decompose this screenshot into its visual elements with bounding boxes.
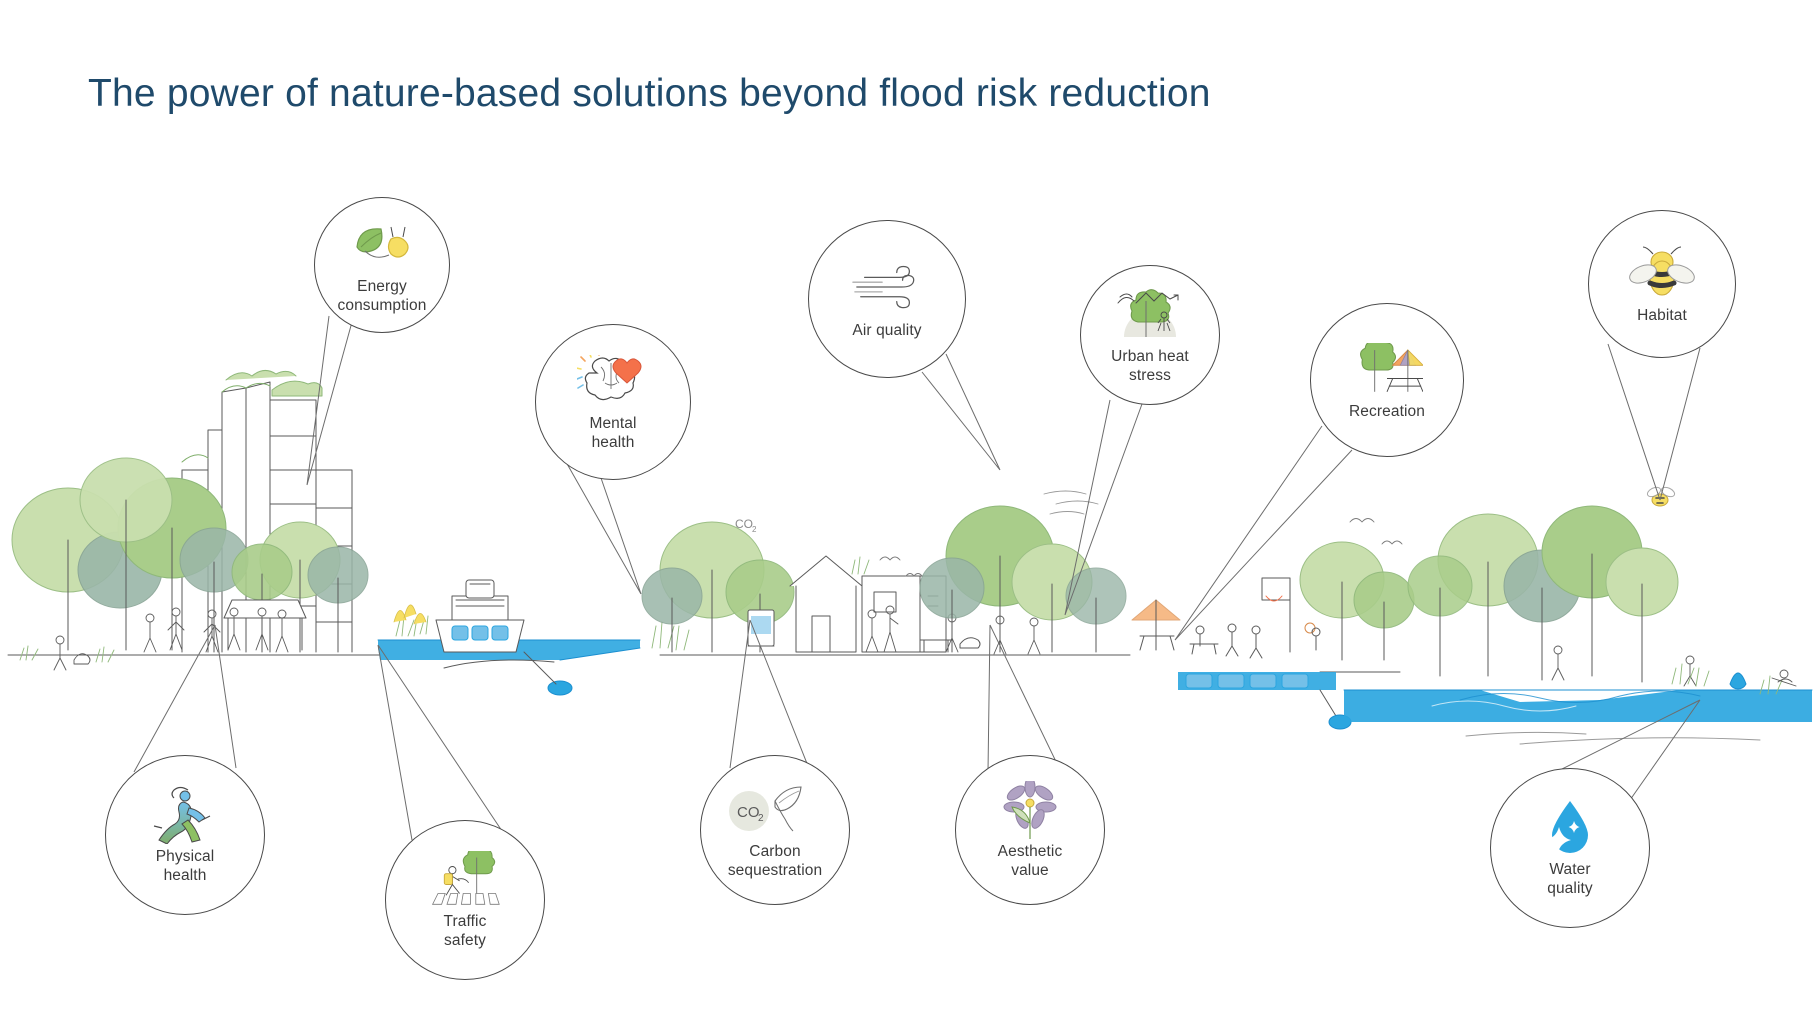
bee-icon	[1626, 243, 1698, 305]
riverbank-reeds	[652, 622, 689, 650]
tree-cluster-court	[1300, 542, 1414, 660]
tree-cluster-left	[12, 458, 368, 652]
tree-cluster-right-park	[920, 506, 1126, 652]
callout-label: Air quality	[852, 322, 921, 341]
canal-boat	[436, 580, 572, 695]
kayaker-on-water	[1772, 670, 1796, 686]
svg-text:CO: CO	[735, 517, 753, 531]
tree-picnic-icon	[1351, 339, 1423, 401]
callout-label: Physical health	[156, 848, 215, 886]
svg-text:CO: CO	[737, 804, 760, 821]
callout-label: Urban heat stress	[1111, 348, 1189, 386]
crosswalk-icon	[429, 849, 501, 911]
tree-cluster-right	[1408, 506, 1678, 682]
runner-icon	[149, 784, 221, 846]
callout-label: Habitat	[1637, 307, 1687, 326]
callout-traffic-safety[interactable]: Traffic safety	[385, 820, 545, 980]
callout-label: Water quality	[1547, 861, 1593, 899]
callout-label: Traffic safety	[444, 913, 487, 951]
floating-green-pontoon	[1178, 672, 1351, 729]
callout-label: Carbon sequestration	[728, 843, 822, 881]
callout-energy-consumption[interactable]: Energy consumption	[314, 197, 450, 333]
callout-mental-health[interactable]: Mental health	[535, 324, 691, 480]
svg-text:2: 2	[758, 813, 764, 824]
callout-physical-health[interactable]: Physical health	[105, 755, 265, 915]
callout-aesthetic-value[interactable]: Aesthetic value	[955, 755, 1105, 905]
callout-label: Energy consumption	[338, 278, 427, 316]
tree-thermal-icon	[1114, 284, 1186, 346]
wind-icon	[851, 258, 923, 320]
callout-water-quality[interactable]: Water quality	[1490, 768, 1650, 928]
flower-icon	[994, 779, 1066, 841]
callout-recreation[interactable]: Recreation	[1310, 303, 1464, 457]
callout-urban-heat-stress[interactable]: Urban heat stress	[1080, 265, 1220, 405]
brain-heart-icon	[577, 351, 649, 413]
co2-leaf-icon: CO 2	[725, 779, 825, 841]
callout-carbon-sequestration[interactable]: CO 2 Carbon sequestration	[700, 755, 850, 905]
svg-text:2: 2	[752, 525, 757, 534]
callout-habitat[interactable]: Habitat	[1588, 210, 1736, 358]
park-pavilion	[790, 556, 946, 652]
leaf-plug-icon	[346, 214, 418, 276]
infographic-canvas: The power of nature-based solutions beyo…	[0, 0, 1813, 1020]
callout-label: Recreation	[1349, 403, 1425, 422]
callout-label: Aesthetic value	[998, 843, 1063, 881]
water-drop-icon	[1534, 797, 1606, 859]
callout-label: Mental health	[589, 415, 636, 453]
callout-air-quality[interactable]: Air quality	[808, 220, 966, 378]
